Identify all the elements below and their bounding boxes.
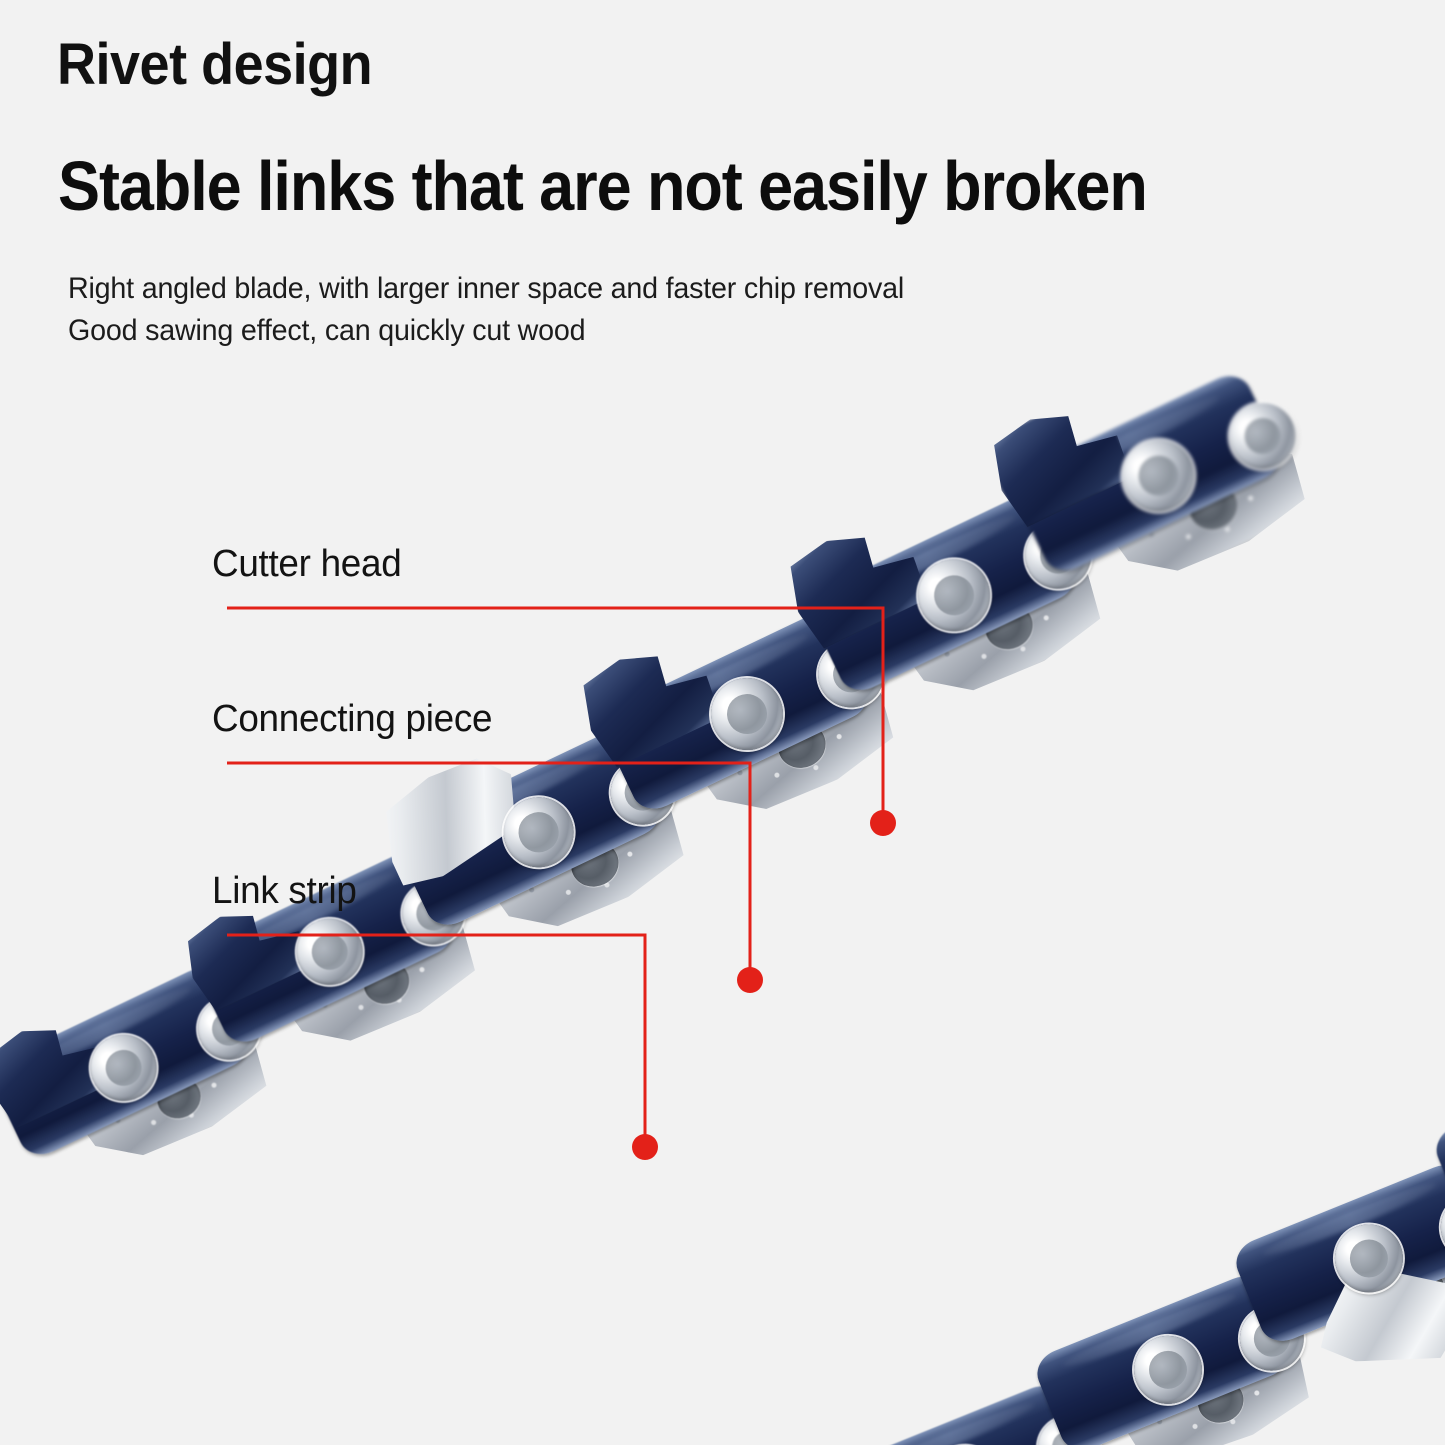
subtext-line-2: Good sawing effect, can quickly cut wood bbox=[68, 310, 904, 352]
callout-label: Cutter head bbox=[212, 542, 401, 586]
callout-connecting-piece: Connecting piece bbox=[212, 697, 501, 741]
callout-label: Connecting piece bbox=[212, 697, 492, 741]
chain-secondary bbox=[759, 1012, 1445, 1445]
page-title: Stable links that are not easily broken bbox=[58, 148, 1147, 224]
subtext-block: Right angled blade, with larger inner sp… bbox=[68, 268, 904, 352]
subtext-line-1: Right angled blade, with larger inner sp… bbox=[68, 268, 904, 310]
callout-link-strip: Link strip bbox=[212, 869, 361, 913]
eyebrow-title: Rivet design bbox=[57, 34, 372, 96]
callout-label: Link strip bbox=[212, 869, 357, 913]
infographic-canvas: Rivet design Stable links that are not e… bbox=[0, 0, 1445, 1445]
callout-cutter-head: Cutter head bbox=[212, 542, 407, 586]
